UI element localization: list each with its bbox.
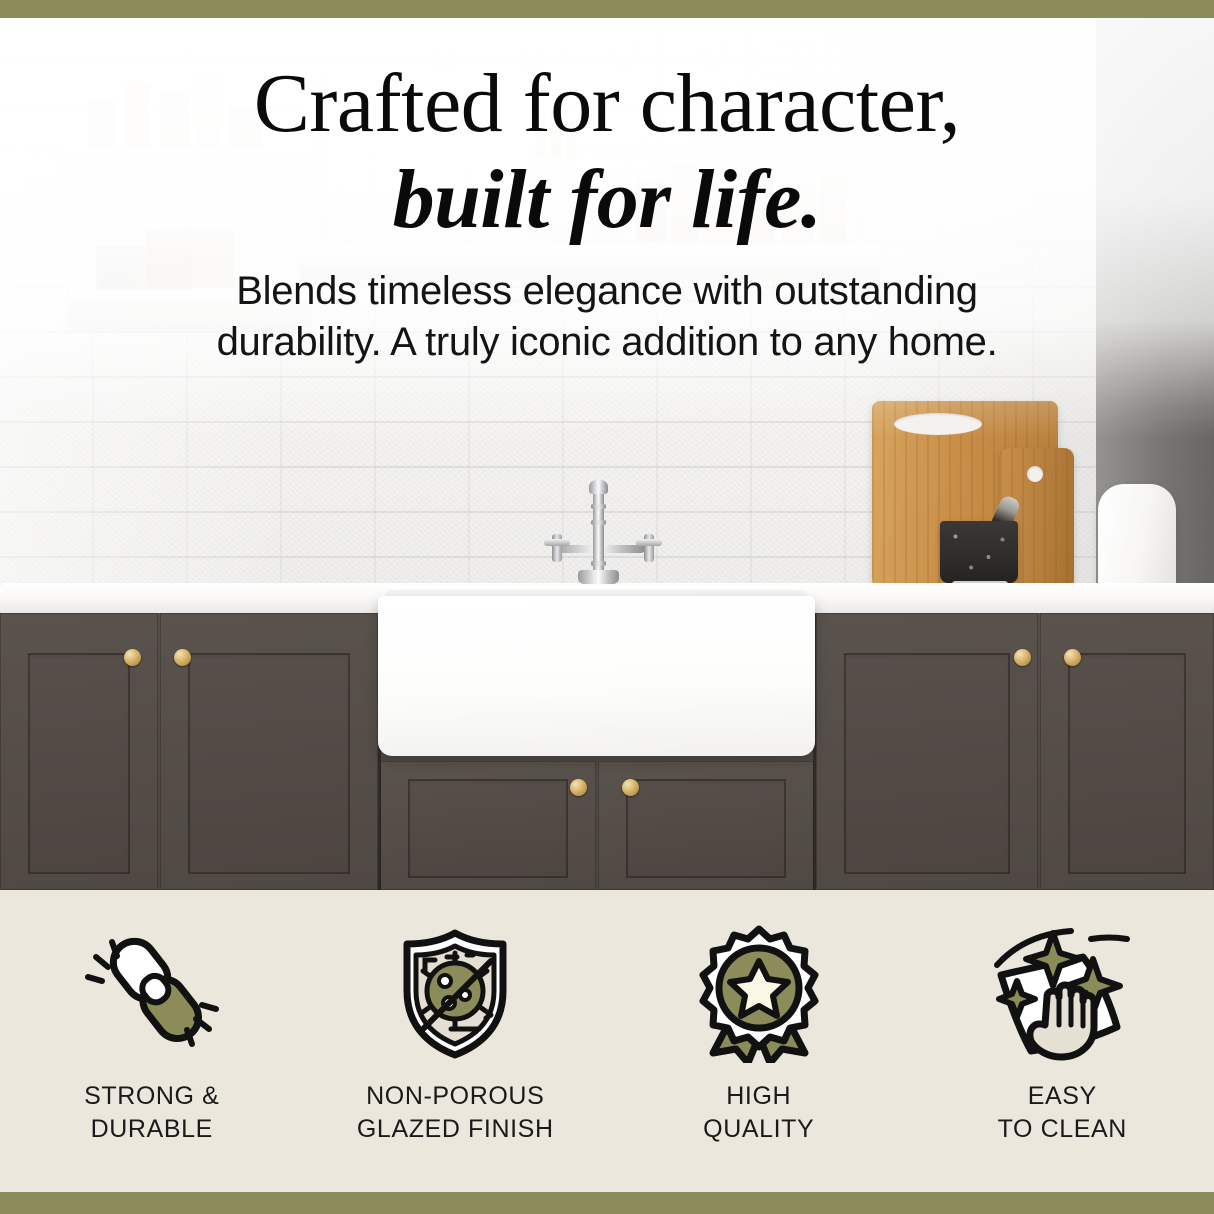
feature-label-line-2: GLAZED FINISH xyxy=(357,1113,554,1146)
bottom-accent-rule xyxy=(0,1192,1214,1214)
faucet-ring xyxy=(591,520,606,525)
feature-label-line-2: DURABLE xyxy=(84,1113,219,1146)
feature-label: EASY TO CLEAN xyxy=(998,1080,1127,1145)
feature-label: STRONG & DURABLE xyxy=(84,1080,219,1145)
feature-label: HIGH QUALITY xyxy=(703,1080,814,1145)
cabinet-door xyxy=(380,761,596,890)
cabinet-knob xyxy=(124,649,141,666)
headline-line-2: built for life. xyxy=(0,146,1214,242)
award-rosette-star-icon xyxy=(689,922,829,1064)
faucet-ring xyxy=(591,504,606,509)
board-handle-hole xyxy=(1027,466,1043,482)
faucet-base xyxy=(578,570,619,584)
cabinet-knob xyxy=(622,779,639,796)
feature-label-line-2: QUALITY xyxy=(703,1113,814,1146)
headline-block: Crafted for character, built for life. B… xyxy=(0,18,1214,418)
faucet-ring xyxy=(591,561,606,566)
cabinet-knob xyxy=(570,779,587,796)
apron-front-sink xyxy=(378,596,815,756)
shield-germ-blocked-icon xyxy=(385,922,525,1064)
mortar xyxy=(940,521,1018,583)
cabinet-panel xyxy=(1068,653,1186,874)
chain-link-icon xyxy=(82,922,222,1064)
feature-label-line-1: EASY xyxy=(998,1080,1127,1113)
cabinet-panel xyxy=(408,779,568,878)
faucet-handle-cross-left[interactable] xyxy=(544,539,570,546)
feature-label-line-1: HIGH xyxy=(703,1080,814,1113)
feature-label-line-1: STRONG & xyxy=(84,1080,219,1113)
feature-label-line-1: NON-POROUS xyxy=(357,1080,554,1113)
subheadline-line-1: Blends timeless elegance with outstandin… xyxy=(0,266,1214,317)
cabinet-knob xyxy=(1064,649,1081,666)
cabinet-door xyxy=(160,613,378,890)
cabinet-panel xyxy=(188,653,350,874)
hand-wiping-cloth-sparkle-icon xyxy=(987,922,1137,1064)
cabinet-panel xyxy=(844,653,1010,874)
cabinet-door xyxy=(816,613,1038,890)
feature-item-easy-to-clean: EASY TO CLEAN xyxy=(911,890,1214,1145)
cabinet-knob xyxy=(174,649,191,666)
cabinet-panel xyxy=(28,653,130,874)
promo-banner: Crafted for character, built for life. B… xyxy=(0,0,1214,1214)
subheadline-line-2: durability. A truly iconic addition to a… xyxy=(0,317,1214,368)
feature-item-non-porous: NON-POROUS GLAZED FINISH xyxy=(304,890,608,1145)
feature-item-high-quality: HIGH QUALITY xyxy=(607,890,911,1145)
feature-item-strong-durable: STRONG & DURABLE xyxy=(0,890,304,1145)
top-accent-rule xyxy=(0,0,1214,18)
faucet-handle-cross-right[interactable] xyxy=(636,539,662,546)
faucet-spout-cap xyxy=(589,480,608,494)
headline-line-1: Crafted for character, xyxy=(0,18,1214,146)
cabinet-panel xyxy=(626,779,786,878)
feature-bar: STRONG & DURABLE xyxy=(0,890,1214,1192)
cabinet-knob xyxy=(1014,649,1031,666)
feature-label-line-2: TO CLEAN xyxy=(998,1113,1127,1146)
feature-label: NON-POROUS GLAZED FINISH xyxy=(357,1080,554,1145)
subheadline: Blends timeless elegance with outstandin… xyxy=(0,242,1214,368)
